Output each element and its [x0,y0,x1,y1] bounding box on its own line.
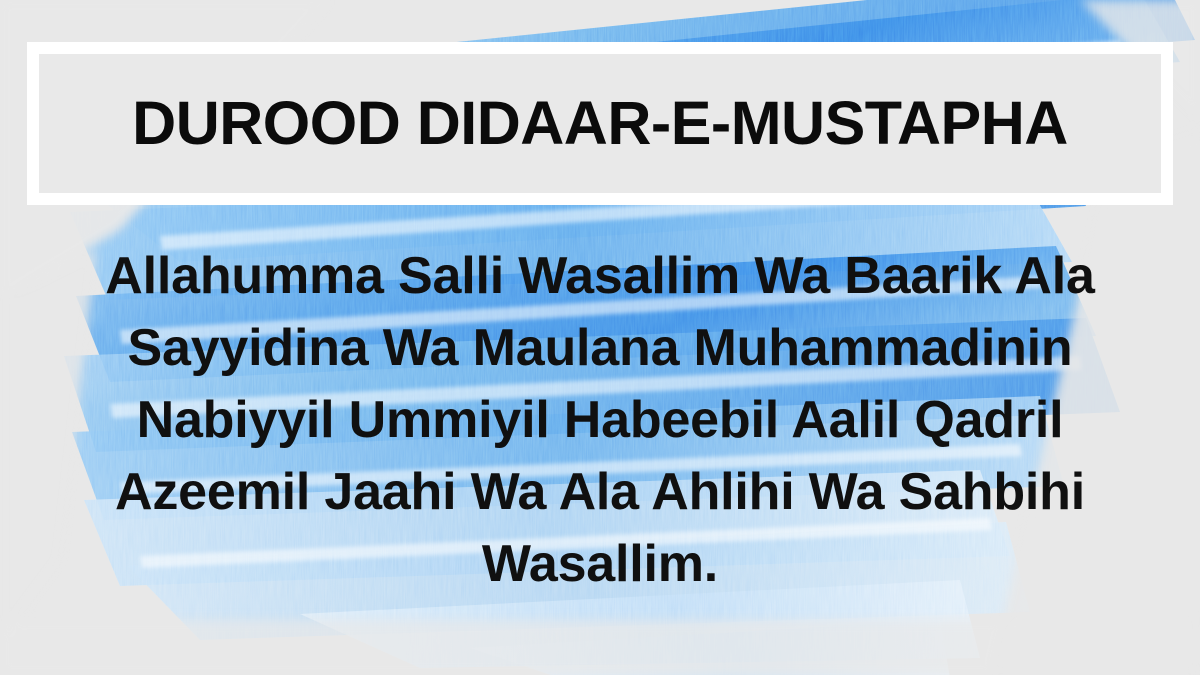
verse-line-3: Nabiyyil Ummiyil Habeebil Aalil Qadril [60,384,1140,456]
title-banner-inner: DUROOD DIDAAR-E-MUSTAPHA [39,54,1161,193]
verse-line-1: Allahumma Salli Wasallim Wa Baarik Ala [60,240,1140,312]
feather-bottom [0,620,1200,675]
verse-block: Allahumma Salli Wasallim Wa Baarik Ala S… [60,240,1140,600]
title-banner: DUROOD DIDAAR-E-MUSTAPHA [27,42,1173,205]
page-title: DUROOD DIDAAR-E-MUSTAPHA [132,93,1068,154]
verse-line-5: Wasallim. [60,528,1140,600]
verse-line-4: Azeemil Jaahi Wa Ala Ahlihi Wa Sahbihi [60,456,1140,528]
poster-canvas: DUROOD DIDAAR-E-MUSTAPHA Allahumma Salli… [0,0,1200,675]
verse-line-2: Sayyidina Wa Maulana Muhammadinin [60,312,1140,384]
